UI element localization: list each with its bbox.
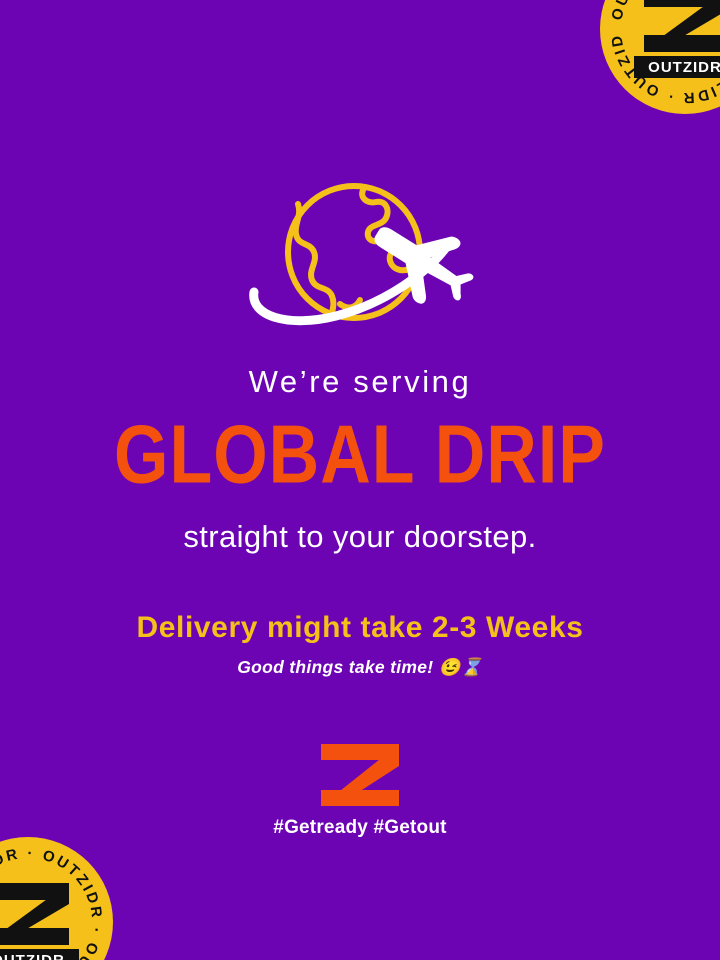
wordmark-bar: OUTZIDR — [0, 949, 79, 960]
poster-copy: We’re serving GLOBAL DRIP straight to yo… — [0, 364, 720, 678]
globe-airplane-graphic — [244, 176, 476, 344]
footer-brand: #Getready #Getout — [0, 744, 720, 839]
wordmark-bar: OUTZIDR — [634, 56, 720, 78]
reassurance-text: Good things take time! 😉⌛ — [28, 657, 692, 678]
eyebrow-text: We’re serving — [28, 364, 692, 400]
global-shipping-illustration — [0, 176, 720, 344]
delivery-note: Delivery might take 2-3 Weeks — [28, 611, 692, 645]
subhead-text: straight to your doorstep. — [28, 519, 692, 555]
poster-canvas: OUTZIDR · OUTZIDR · OUTZIDR · OUTZIDR · … — [0, 0, 720, 960]
outzidr-sticker-top-right: OUTZIDR · OUTZIDR · OUTZIDR · OUTZIDR · … — [600, 0, 720, 114]
sticker-graphic: OUTZIDR · OUTZIDR · OUTZIDR · OUTZIDR · … — [0, 837, 113, 960]
page-title: GLOBAL DRIP — [28, 413, 692, 496]
outzidr-sticker-bottom-left: OUTZIDR · OUTZIDR · OUTZIDR · OUTZIDR · … — [0, 837, 113, 960]
sticker-graphic: OUTZIDR · OUTZIDR · OUTZIDR · OUTZIDR · … — [600, 0, 720, 114]
outzidr-z-logo — [321, 744, 399, 806]
svg-text:OUTZIDR: OUTZIDR — [0, 952, 65, 960]
hashtags-text: #Getready #Getout — [0, 817, 720, 839]
svg-text:OUTZIDR: OUTZIDR — [648, 59, 720, 76]
